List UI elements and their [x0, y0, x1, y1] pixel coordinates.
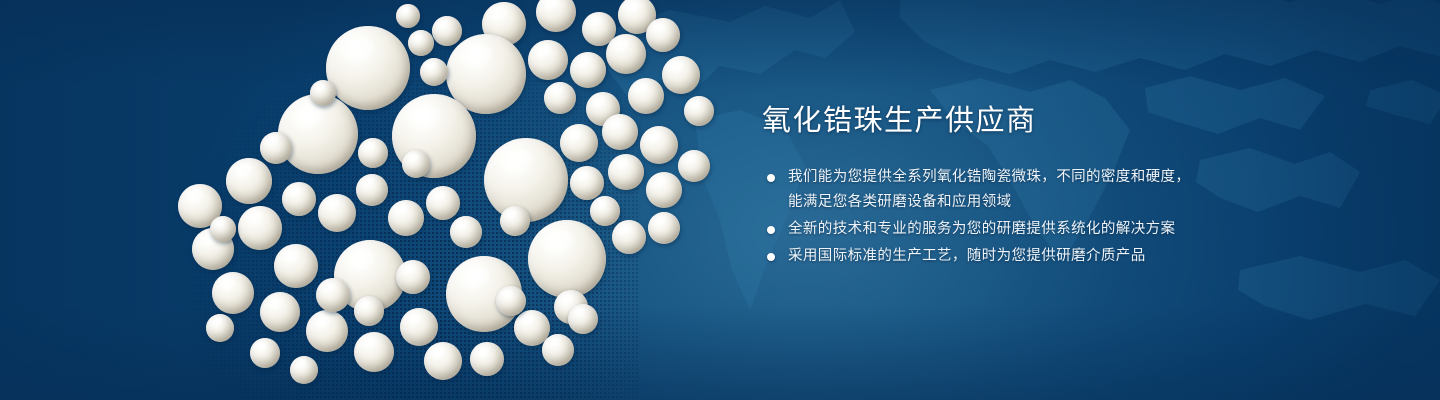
- list-item: 采用国际标准的生产工艺，随时为您提供研磨介质产品: [762, 244, 1322, 269]
- feature-list: 我们能为您提供全系列氧化锆陶瓷微珠，不同的密度和硬度， 能满足您各类研磨设备和应…: [762, 165, 1322, 269]
- list-item: 全新的技术和专业的服务为您的研磨提供系统化的解决方案: [762, 217, 1322, 242]
- bullet-dot-icon: [767, 253, 775, 261]
- page-title: 氧化锆珠生产供应商: [762, 104, 1322, 139]
- hero-banner: 氧化锆珠生产供应商 我们能为您提供全系列氧化锆陶瓷微珠，不同的密度和硬度， 能满…: [0, 0, 1440, 400]
- list-item-line: 采用国际标准的生产工艺，随时为您提供研磨介质产品: [788, 244, 1322, 269]
- bullet-dot-icon: [767, 174, 775, 182]
- list-item: 我们能为您提供全系列氧化锆陶瓷微珠，不同的密度和硬度， 能满足您各类研磨设备和应…: [762, 165, 1322, 215]
- list-item-line: 全新的技术和专业的服务为您的研磨提供系统化的解决方案: [788, 217, 1322, 242]
- bullet-dot-icon: [767, 226, 775, 234]
- list-item-line: 能满足您各类研磨设备和应用领域: [788, 190, 1322, 215]
- zirconia-beads-photo: [150, 0, 730, 400]
- list-item-line: 我们能为您提供全系列氧化锆陶瓷微珠，不同的密度和硬度，: [788, 165, 1322, 190]
- banner-copy: 氧化锆珠生产供应商 我们能为您提供全系列氧化锆陶瓷微珠，不同的密度和硬度， 能满…: [762, 104, 1322, 271]
